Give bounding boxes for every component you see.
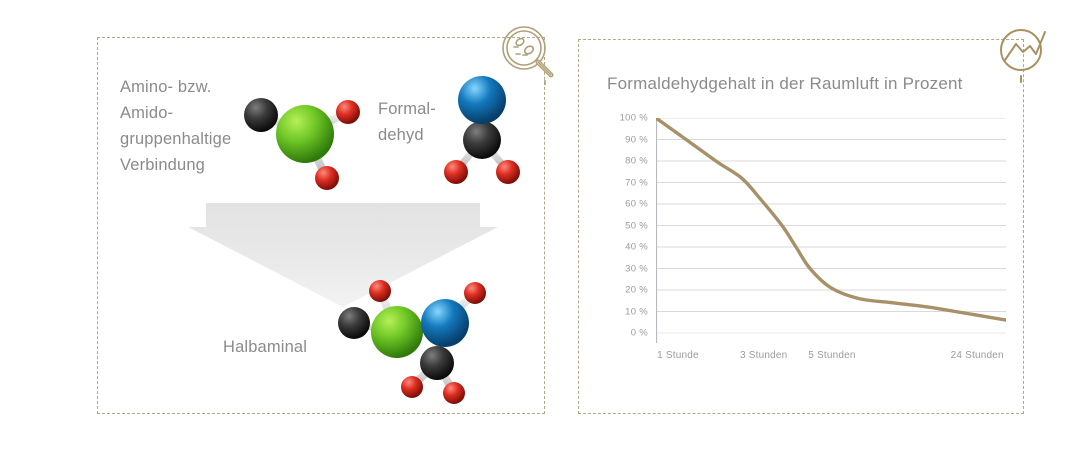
x-axis-tick: 1 Stunde bbox=[657, 350, 699, 361]
trend-chart-icon bbox=[992, 24, 1054, 86]
x-axis-tick: 24 Stunden bbox=[951, 350, 1004, 361]
amine-molecule bbox=[238, 82, 368, 197]
halbaminal-label: Halbaminal bbox=[223, 338, 307, 357]
y-axis-tick: 20 % bbox=[604, 285, 648, 296]
y-axis-tick: 70 % bbox=[604, 177, 648, 188]
y-axis-tick: 30 % bbox=[604, 263, 648, 274]
chart-title: Formaldehydgehalt in der Raumluft in Pro… bbox=[607, 74, 963, 94]
y-axis-tick: 60 % bbox=[604, 199, 648, 210]
x-axis-tick: 3 Stunden bbox=[740, 350, 787, 361]
y-axis-tick: 0 % bbox=[604, 328, 648, 339]
y-axis-tick: 50 % bbox=[604, 220, 648, 231]
formaldehyde-molecule bbox=[437, 68, 527, 190]
y-axis-tick: 90 % bbox=[604, 134, 648, 145]
x-axis-tick: 5 Stunden bbox=[808, 350, 855, 361]
y-axis-tick: 40 % bbox=[604, 242, 648, 253]
halbaminal-molecule bbox=[325, 275, 510, 405]
chart-plot-area bbox=[656, 118, 1006, 343]
y-axis-tick: 100 % bbox=[604, 113, 648, 124]
infographic-canvas: Amino- bzw. Amido- gruppenhaltige Verbin… bbox=[0, 0, 1080, 462]
y-axis-tick: 80 % bbox=[604, 156, 648, 167]
line-chart: 100 %90 %80 %70 %60 %50 %40 %30 %20 %10 … bbox=[600, 118, 1012, 368]
y-axis: 100 %90 %80 %70 %60 %50 %40 %30 %20 %10 … bbox=[600, 118, 648, 333]
y-axis-tick: 10 % bbox=[604, 306, 648, 317]
